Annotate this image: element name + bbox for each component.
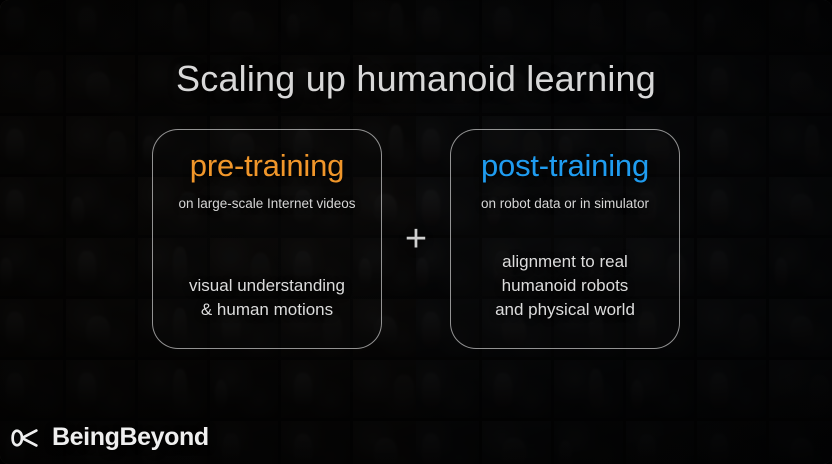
card-body-line: & human motions (189, 298, 345, 322)
card-subtitle-post-training: on robot data or in simulator (481, 196, 649, 211)
card-post-training[interactable]: post-training on robot data or in simula… (450, 129, 680, 349)
page-title: Scaling up humanoid learning (0, 58, 832, 100)
card-heading-post-training: post-training (481, 148, 649, 184)
card-body-pre-training: visual understanding & human motions (189, 274, 345, 322)
cards-row: pre-training on large-scale Internet vid… (0, 129, 832, 349)
card-pre-training[interactable]: pre-training on large-scale Internet vid… (152, 129, 382, 349)
card-heading-pre-training: pre-training (190, 148, 344, 184)
card-body-line: alignment to real (495, 250, 635, 274)
plus-operator: + (382, 129, 450, 349)
infinity-loop-icon (10, 427, 44, 449)
card-body-line: visual understanding (189, 274, 345, 298)
slide-content: Scaling up humanoid learning pre-trainin… (0, 0, 832, 464)
card-body-post-training: alignment to real humanoid robots and ph… (495, 250, 635, 322)
card-body-line: and physical world (495, 298, 635, 322)
card-body-line: humanoid robots (495, 274, 635, 298)
brand-name: BeingBeyond (52, 423, 209, 452)
card-subtitle-pre-training: on large-scale Internet videos (178, 196, 355, 211)
brand-lockup: BeingBeyond (10, 423, 209, 452)
slide-root: Scaling up humanoid learning pre-trainin… (0, 0, 832, 464)
